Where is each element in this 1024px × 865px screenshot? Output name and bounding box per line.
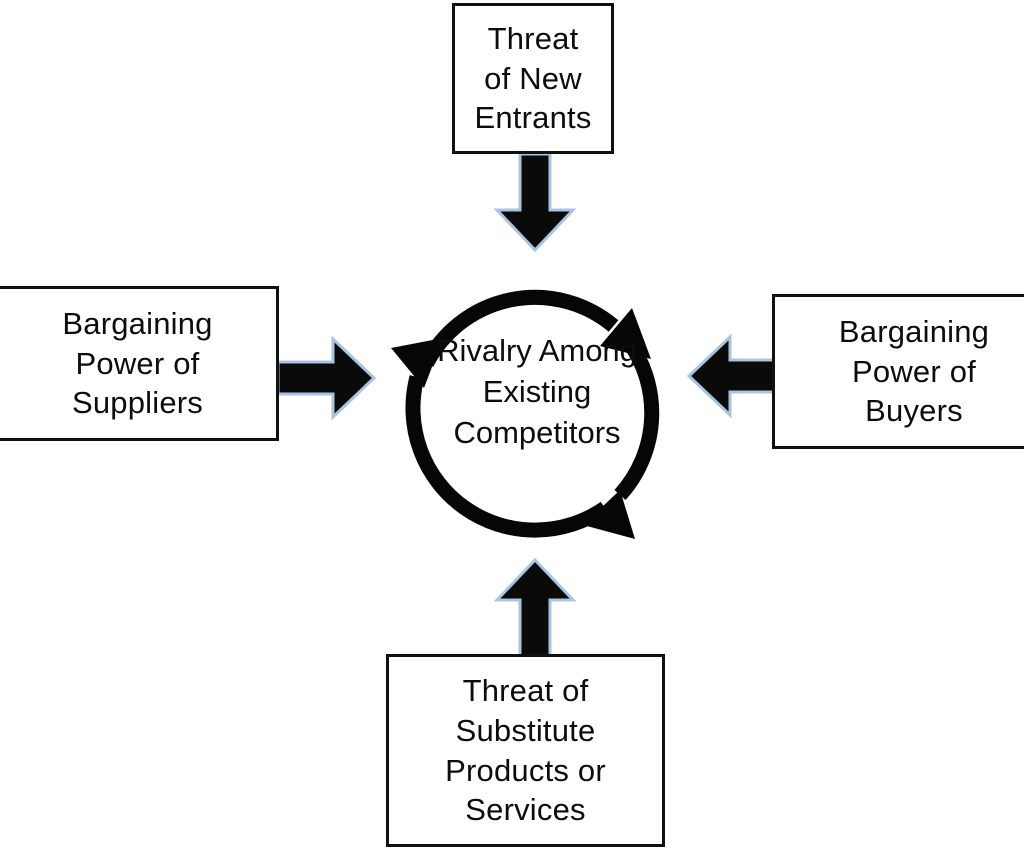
- force-label-threat-of-substitute-products-or-services: Threat of Substitute Products or Service…: [439, 671, 612, 831]
- porters-five-forces-diagram: Threat of New Entrants Bargaining Power …: [0, 0, 1024, 865]
- arrow-down-icon: [494, 152, 576, 252]
- force-box-bargaining-power-of-buyers: Bargaining Power of Buyers: [772, 294, 1024, 449]
- rivalry-cycle-icon: [377, 252, 697, 572]
- force-label-bargaining-power-of-buyers: Bargaining Power of Buyers: [833, 312, 995, 432]
- force-label-bargaining-power-of-suppliers: Bargaining Power of Suppliers: [56, 304, 218, 424]
- arrow-up-icon: [494, 557, 576, 659]
- force-label-threat-of-new-entrants: Threat of New Entrants: [468, 19, 597, 139]
- force-box-threat-of-substitute-products-or-services: Threat of Substitute Products or Service…: [386, 654, 665, 847]
- force-box-threat-of-new-entrants: Threat of New Entrants: [452, 3, 614, 154]
- arrow-right-icon: [276, 335, 376, 421]
- force-box-bargaining-power-of-suppliers: Bargaining Power of Suppliers: [0, 286, 279, 441]
